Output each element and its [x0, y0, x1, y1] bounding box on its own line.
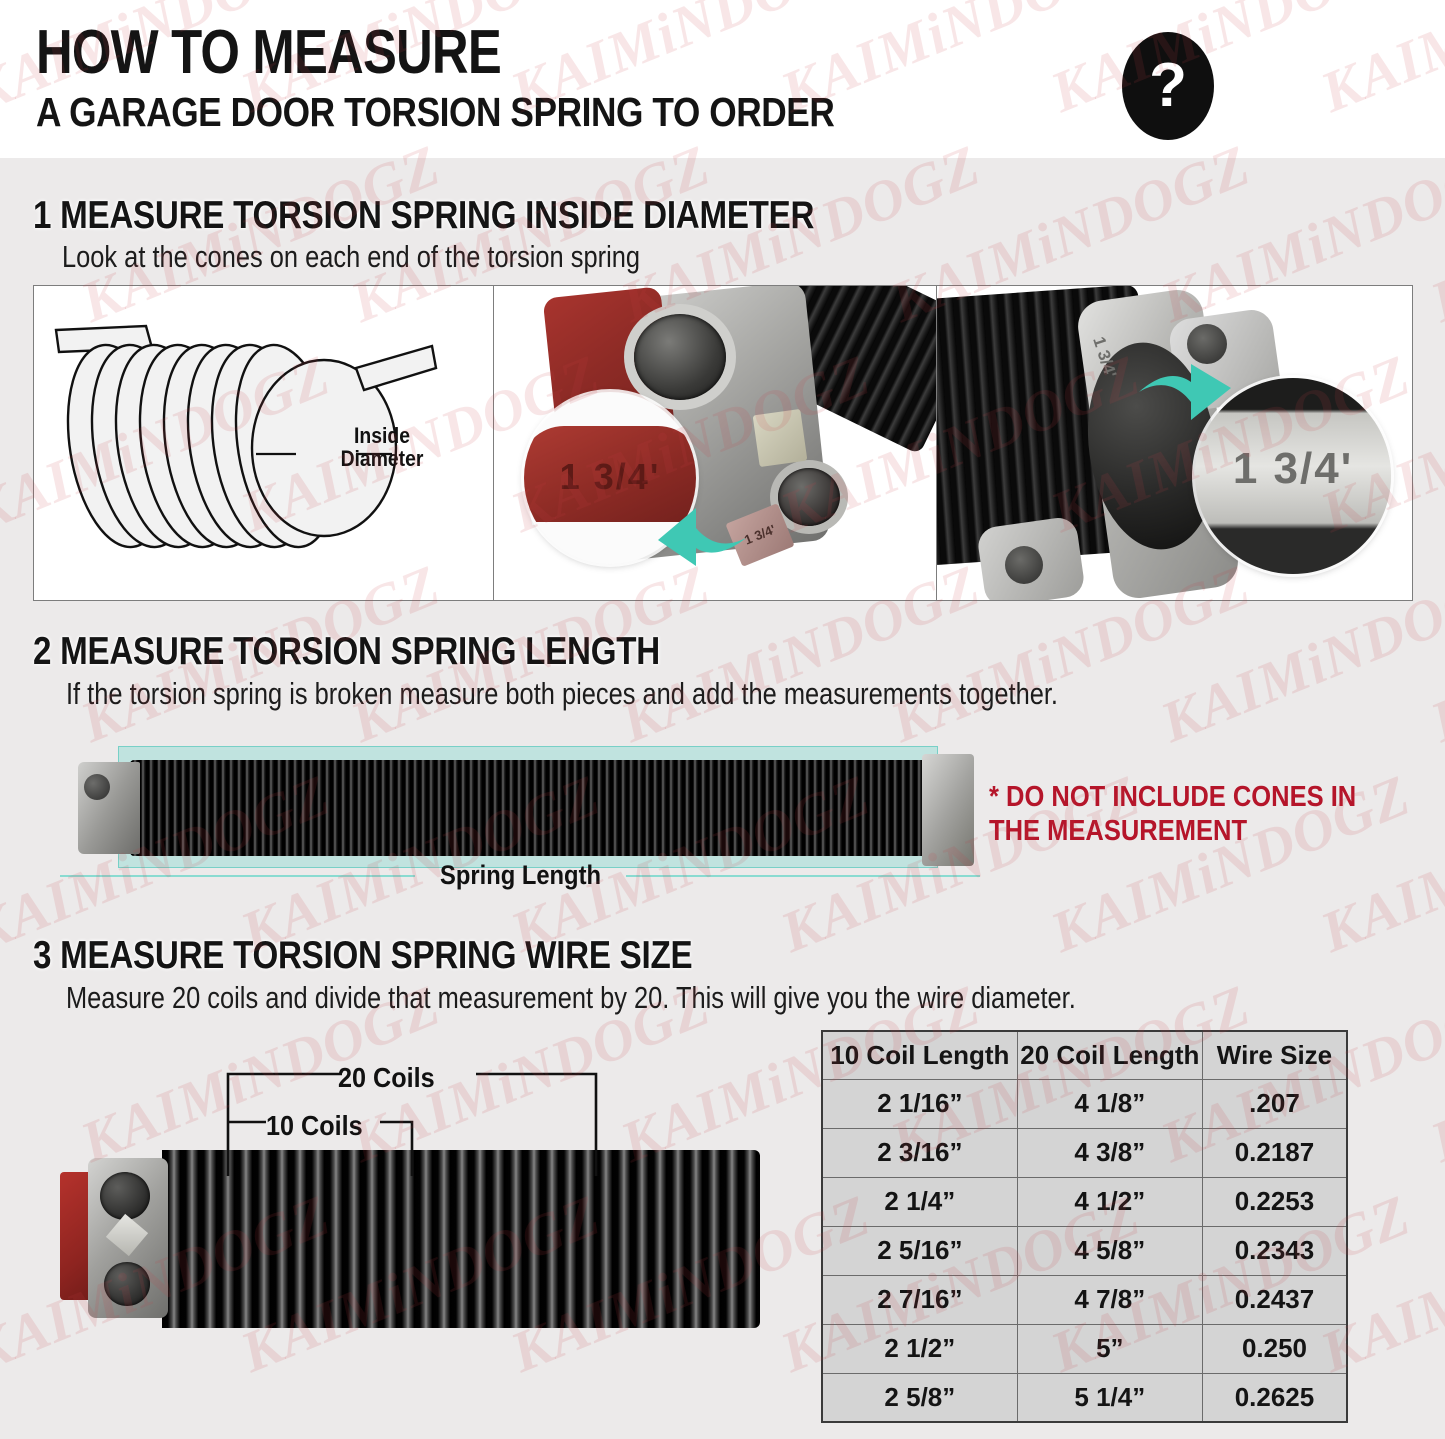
cones-warning: * DO NOT INCLUDE CONES IN THE MEASUREMEN… [989, 780, 1356, 848]
bolt-hole-top [1187, 324, 1227, 364]
wire-size-table: 10 Coil Length 20 Coil Length Wire Size … [821, 1030, 1348, 1423]
magnifier-size-text: 1 3/4' [1195, 444, 1391, 494]
cone-bore-bottom [104, 1262, 150, 1306]
magnifier-size-text: 1 3/4' [524, 456, 696, 498]
step-3-subtext: Measure 20 coils and divide that measure… [66, 982, 1076, 1013]
question-mark-icon: ? [1122, 32, 1214, 140]
cone-bore-top [634, 314, 726, 400]
cell-wire-size: 0.2187 [1202, 1128, 1347, 1177]
cell-20-coil: 5 1/4” [1017, 1373, 1202, 1422]
red-cone-photo: 1 3/4' 1 3/4' [494, 286, 936, 600]
teal-pointer-arrow [1135, 362, 1235, 424]
step-1-panel-group: Inside Diameter 1 3/4' [33, 285, 1413, 601]
page-title: HOW TO MEASURE [36, 22, 501, 84]
cell-20-coil: 4 3/8” [1017, 1128, 1202, 1177]
spring-length-diagram: Spring Length [60, 738, 980, 898]
spring-cone-left [78, 762, 140, 854]
step-2-subtext: If the torsion spring is broken measure … [66, 678, 1058, 709]
cell-20-coil: 4 1/8” [1017, 1079, 1202, 1128]
spring-length-caption: Spring Length [60, 860, 980, 891]
cell-20-coil: 4 5/8” [1017, 1226, 1202, 1275]
cell-20-coil: 4 7/8” [1017, 1275, 1202, 1324]
cell-wire-size: .207 [1202, 1079, 1347, 1128]
step-1-subtext: Look at the cones on each end of the tor… [62, 241, 640, 272]
cell-wire-size: 0.2437 [1202, 1275, 1347, 1324]
watermark-text: KAIMiNDOGZ [1421, 131, 1445, 336]
step-2-heading: 2 MEASURE TORSION SPRING LENGTH [33, 632, 660, 671]
cell-10-coil: 2 3/16” [822, 1128, 1017, 1177]
table-row: 2 1/2” 5” 0.250 [822, 1324, 1347, 1373]
inside-diameter-diagram-panel: Inside Diameter [33, 285, 494, 601]
cell-10-coil: 2 1/4” [822, 1177, 1017, 1226]
table-row: 2 1/4” 4 1/2” 0.2253 [822, 1177, 1347, 1226]
column-header-20-coil: 20 Coil Length [1017, 1031, 1202, 1079]
cell-wire-size: 0.2343 [1202, 1226, 1347, 1275]
metal-cone-photo: 1 3/4' 1 3/4' [937, 286, 1412, 600]
cell-wire-size: 0.2625 [1202, 1373, 1347, 1422]
table-row: 2 1/16” 4 1/8” .207 [822, 1079, 1347, 1128]
inside-diameter-label-line2: Diameter [341, 446, 424, 471]
page-subtitle: A GARAGE DOOR TORSION SPRING TO ORDER [36, 92, 834, 133]
spring-cone-right [922, 754, 974, 866]
table-header-row: 10 Coil Length 20 Coil Length Wire Size [822, 1031, 1347, 1079]
spring-length-label: Spring Length [427, 860, 613, 891]
cell-10-coil: 2 7/16” [822, 1275, 1017, 1324]
metal-cone-photo-panel: 1 3/4' 1 3/4' [937, 285, 1413, 601]
step-3-heading: 3 MEASURE TORSION SPRING WIRE SIZE [33, 936, 692, 975]
cell-10-coil: 2 5/8” [822, 1373, 1017, 1422]
spring-body-shape [130, 760, 930, 856]
watermark-text: KAIMiNDOGZ [1421, 551, 1445, 756]
watermark-text: KAIMiNDOGZ [1421, 971, 1445, 1176]
cones-warning-line2: THE MEASUREMENT [989, 815, 1247, 847]
table-row: 2 7/16” 4 7/8” 0.2437 [822, 1275, 1347, 1324]
header-band: HOW TO MEASURE A GARAGE DOOR TORSION SPR… [0, 0, 1445, 158]
cell-20-coil: 4 1/2” [1017, 1177, 1202, 1226]
cell-wire-size: 0.250 [1202, 1324, 1347, 1373]
cell-wire-size: 0.2253 [1202, 1177, 1347, 1226]
teal-pointer-arrow [652, 504, 748, 568]
caption-rule-right [626, 875, 981, 877]
cell-20-coil: 5” [1017, 1324, 1202, 1373]
table-row: 2 3/16” 4 3/8” 0.2187 [822, 1128, 1347, 1177]
step-1-heading: 1 MEASURE TORSION SPRING INSIDE DIAMETER [33, 196, 814, 235]
coil-spring-cone [60, 1158, 168, 1318]
infographic-page: HOW TO MEASURE A GARAGE DOOR TORSION SPR… [0, 0, 1445, 1439]
cone-bore-bottom [778, 468, 840, 526]
caption-rule-left [60, 875, 415, 877]
column-header-10-coil: 10 Coil Length [822, 1031, 1017, 1079]
cell-10-coil: 2 5/16” [822, 1226, 1017, 1275]
inside-diameter-label: Inside Diameter [325, 424, 439, 470]
bolt-hole-bottom [1005, 546, 1043, 584]
set-screw [753, 409, 808, 467]
cell-10-coil: 2 1/16” [822, 1079, 1017, 1128]
table-row: 2 5/16” 4 5/8” 0.2343 [822, 1226, 1347, 1275]
coil-callout-10-label: 10 Coils [266, 1110, 363, 1142]
column-header-wire-size: Wire Size [1202, 1031, 1347, 1079]
red-cone-photo-panel: 1 3/4' 1 3/4' [494, 285, 937, 601]
table-row: 2 5/8” 5 1/4” 0.2625 [822, 1373, 1347, 1422]
cell-10-coil: 2 1/2” [822, 1324, 1017, 1373]
coil-callout-20-label: 20 Coils [338, 1062, 435, 1094]
cones-warning-line1: * DO NOT INCLUDE CONES IN [989, 781, 1356, 813]
inside-diameter-label-line1: Inside [354, 423, 410, 448]
